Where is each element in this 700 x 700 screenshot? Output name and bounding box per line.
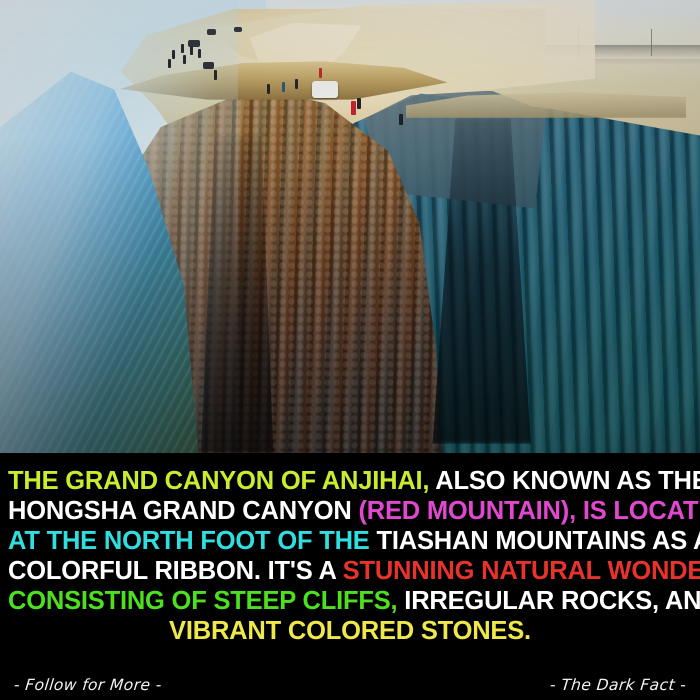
caption-seg-plain: ALSO KNOWN AS THE [429,467,700,495]
caption-line-6: VIBRANT COLORED STONES. [8,616,692,646]
caption-seg-plain: TIASHAN MOUNTAINS AS A [370,527,700,555]
caption-text: THE GRAND CANYON OF ANJIHAI, ALSO KNOWN … [0,453,700,646]
person-figure [357,98,361,109]
person-figure [190,46,193,55]
person-figure [172,50,175,59]
person-figure [168,59,171,68]
canyon-photo [0,0,700,453]
caption-seg-plain: HONGSHA GRAND CANYON [8,497,358,525]
caption-seg-highlight: (RED MOUNTAIN), IS LOCATED [358,497,700,525]
person-figure [181,44,184,53]
caption-seg-highlight: STUNNING NATURAL WONDER [343,557,700,585]
caption-seg-highlight: VIBRANT COLORED STONES. [169,617,531,645]
person-in-red-upper [319,68,322,78]
caption-line-1: THE GRAND CANYON OF ANJIHAI, ALSO KNOWN … [8,466,692,496]
caption-seg-plain: COLORFUL RIBBON. IT'S A [8,557,343,585]
person-figure [282,82,285,92]
dark-car-4 [203,62,214,69]
person-figure [183,55,186,64]
dark-car-1 [207,29,216,35]
poster: THE GRAND CANYON OF ANJIHAI, ALSO KNOWN … [0,0,700,700]
caption-line-4: COLORFUL RIBBON. IT'S A STUNNING NATURAL… [8,556,692,586]
caption-line-2: HONGSHA GRAND CANYON (RED MOUNTAIN), IS … [8,496,692,526]
white-suv [312,81,338,98]
caption-line-3: AT THE NORTH FOOT OF THE TIASHAN MOUNTAI… [8,526,692,556]
caption-panel: THE GRAND CANYON OF ANJIHAI, ALSO KNOWN … [0,453,700,700]
caption-line-5: CONSISTING OF STEEP CLIFFS, IRREGULAR RO… [8,586,692,616]
follow-for-more-signature: - Follow for More - [13,676,163,694]
person-figure [399,114,403,125]
person-figure [267,84,270,94]
person-figure [214,70,217,80]
footer: - Follow for More - - The Dark Fact - [0,676,700,694]
dark-car-2 [234,27,242,32]
caption-seg-highlight: THE GRAND CANYON OF ANJIHAI, [8,467,429,495]
utility-pole-icon [651,29,652,56]
the-dark-fact-signature: - The Dark Fact - [549,676,687,694]
caption-seg-plain: IRREGULAR ROCKS, AND [397,587,700,615]
caption-seg-highlight: CONSISTING OF STEEP CLIFFS, [8,587,397,615]
person-figure [295,79,298,89]
person-figure [198,49,201,58]
person-in-red [351,101,356,115]
caption-seg-highlight: AT THE NORTH FOOT OF THE [8,527,370,555]
